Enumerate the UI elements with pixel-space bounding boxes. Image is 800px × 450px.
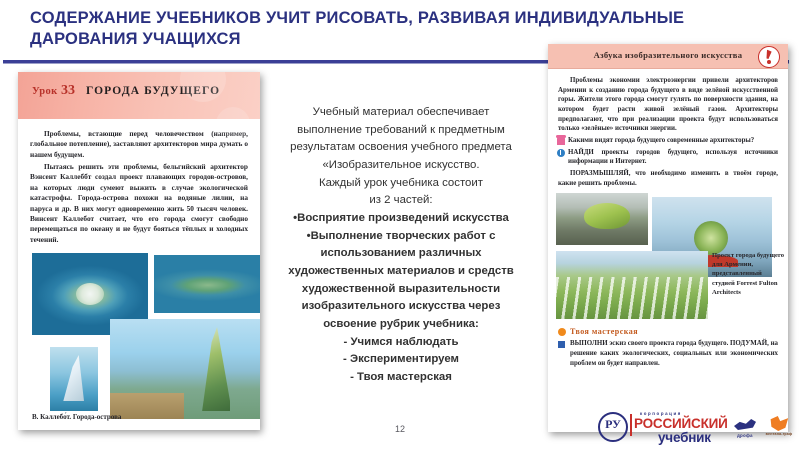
drofa-logo: дрофа [732,416,758,442]
right-think-task-text: ПОРАЗМЫШЛЯЙ, что необходимо изменить в т… [548,167,788,188]
center-bullet-7: освоение рубрик учебника: [265,316,537,334]
butterfly-icon [769,416,789,431]
right-question-text: Какими видят города будущего современные… [568,137,754,144]
right-page-paragraph: Проблемы экономии электроэнергии привели… [548,69,788,134]
center-line-6: из 2 частей: [265,192,537,210]
right-image-caption: Проект города будущего для Армении, пред… [712,251,786,296]
info-marker-icon [557,149,565,157]
lesson-header-band: Урок 33 ГОРОДА БУДУЩЕГО [18,72,260,119]
right-paragraph-1: Проблемы экономии электроэнергии привели… [558,76,778,134]
workshop-heading-text: Твоя мастерская [570,327,638,336]
center-bullet-6: изобразительного искусства через [265,298,537,316]
lesson-heading: ГОРОДА БУДУЩЕГО [86,85,220,97]
green-sail-skyscraper-image [110,319,260,419]
center-bullet-5: художественной выразительности [265,281,537,299]
left-image-caption: В. Каллебо́т. Города-острова [32,413,152,422]
ventana-graf-label: вентана-граф [762,432,796,436]
left-page-image-collage: В. Каллебо́т. Города-острова [28,253,250,430]
lesson-number: 33 [61,83,75,99]
ru-monogram-letters: РУ [600,417,626,432]
right-find-task-text: НАЙДИ проекты городов будущего, использу… [568,149,778,166]
center-subitem-2: - Экспериментируем [265,351,537,369]
right-textbook-page: Азбука изобразительного искусства Пробле… [548,44,788,432]
workshop-task-text: ВЫПОЛНИ эскиз своего проекта города буду… [570,340,778,366]
center-subitem-1: - Учимся наблюдать [265,334,537,352]
logo-red-divider [630,414,632,436]
drofa-label: дрофа [732,433,758,438]
center-line-3: результатам освоения учебного предмета [265,139,537,157]
right-question-row: Какими видят города будущего современные… [548,136,788,146]
left-paragraph-1: Проблемы, встающие перед человечеством (… [30,129,248,160]
green-terraced-hillside-city-image [556,251,708,319]
center-bullet-3: использованием различных [265,245,537,263]
square-marker-icon [558,341,565,348]
ru-monogram-icon: РУ [598,412,628,442]
logo-brand-line2: учебник [658,430,711,445]
exclamation-brush-icon [758,46,780,68]
azbuka-header-band: Азбука изобразительного искусства [548,44,788,69]
center-line-5: Каждый урок учебника состоит [265,175,537,193]
floating-island-strip-view-image [154,255,260,313]
workshop-heading: Твоя мастерская [548,327,788,336]
workshop-marker-icon [558,328,566,336]
azbuka-title: Азбука изобразительного искусства [548,50,788,60]
center-line-1: Учебный материал обеспечивает [265,104,537,122]
center-bullet-4: художественных материалов и средств [265,263,537,281]
center-bullet-2: •Выполнение творческих работ с [265,228,537,246]
question-marker-icon [557,137,565,145]
green-hill-building-street-image [556,193,648,245]
right-page-image-collage: Проект города будущего для Армении, пред… [556,193,780,321]
drofa-bird-icon [734,418,756,431]
ventana-graf-logo: вентана-граф [766,416,792,442]
center-line-4: «Изобразительное искусство. [265,157,537,175]
left-paragraph-2: Пытаясь решить эти проблемы, бельгийский… [30,162,248,245]
workshop-task-row: ВЫПОЛНИ эскиз своего проекта города буду… [548,339,788,368]
center-description-text: Учебный материал обеспечивает выполнение… [265,104,537,387]
logo-brand-line1: РОССИЙСКИЙ [634,416,728,431]
publisher-logo-bar: РУ корпорация РОССИЙСКИЙ учебник дрофа в… [598,406,794,446]
right-find-task-row: НАЙДИ проекты городов будущего, использу… [548,148,788,167]
lesson-label: Урок [32,86,58,97]
center-line-2: выполнение требований к предметным [265,122,537,140]
burj-al-arab-tower-image [50,347,98,411]
center-subitem-3: - Твоя мастерская [265,369,537,387]
left-textbook-page: Урок 33 ГОРОДА БУДУЩЕГО Проблемы, встающ… [18,72,260,430]
center-bullet-1: •Восприятие произведений искусства [265,210,537,228]
